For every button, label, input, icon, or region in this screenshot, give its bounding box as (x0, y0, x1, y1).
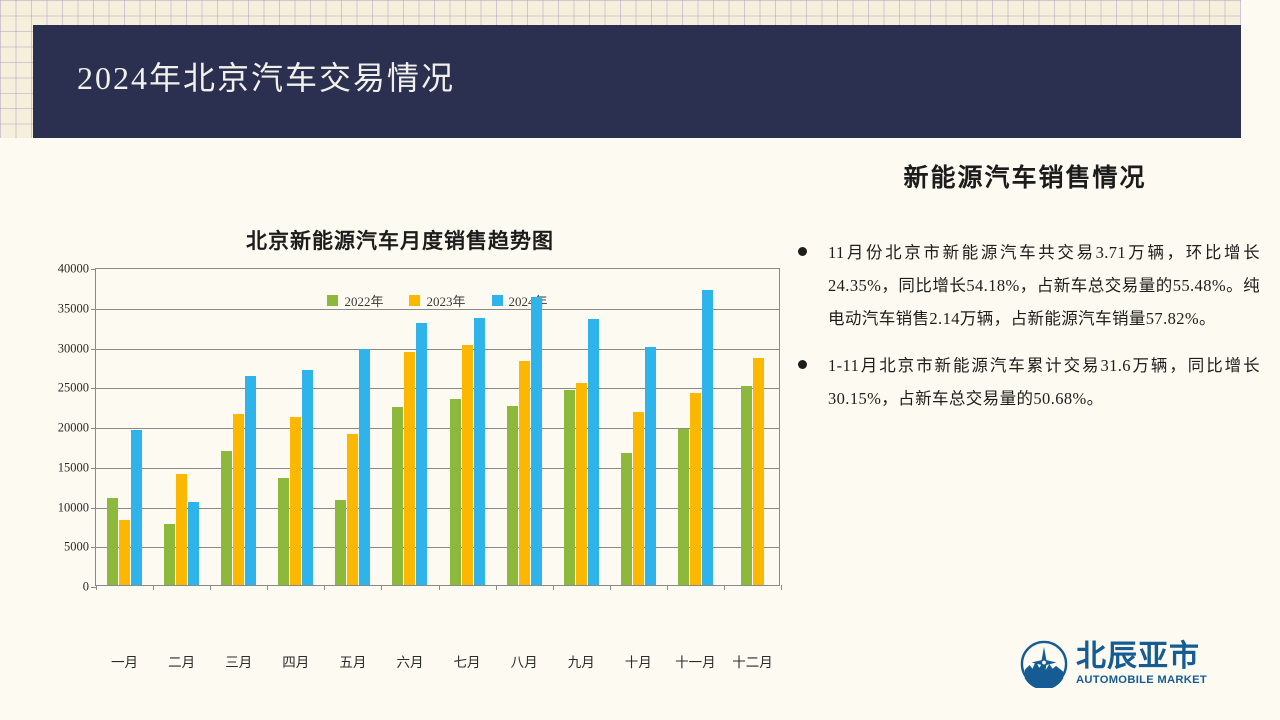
bar-2023年-四月[interactable] (290, 417, 301, 585)
x-tick-label-七月: 七月 (454, 651, 481, 671)
x-tick-label-二月: 二月 (168, 651, 195, 671)
bar-group-五月 (324, 269, 381, 585)
bullet-item: 1-11月北京市新能源汽车累计交易31.6万辆，同比增长30.15%，占新车总交… (790, 349, 1260, 415)
brand-logo: 北辰亚市 AUTOMOBILE MARKET (1020, 640, 1207, 688)
y-tick-label: 20000 (19, 421, 89, 436)
y-tick-label: 30000 (19, 341, 89, 356)
bar-group-十一月 (667, 269, 724, 585)
y-tick-label: 35000 (19, 301, 89, 316)
bar-2022年-六月[interactable] (392, 407, 403, 585)
grid-paper-texture-lower (0, 108, 33, 138)
x-tick-label-四月: 四月 (282, 651, 309, 671)
x-tick-mark (610, 585, 611, 590)
chart-title: 北京新能源汽车月度销售趋势图 (20, 225, 780, 255)
x-tick-label-一月: 一月 (111, 651, 138, 671)
x-tick-mark (324, 585, 325, 590)
bar-2024年-八月[interactable] (531, 297, 542, 585)
slide-root: 2024年北京汽车交易情况 北京新能源汽车月度销售趋势图 05000100001… (0, 0, 1280, 720)
bullet-text: 1-11月北京市新能源汽车累计交易31.6万辆，同比增长30.15%，占新车总交… (828, 356, 1260, 408)
title-bar: 2024年北京汽车交易情况 (33, 25, 1241, 138)
bar-2024年-五月[interactable] (359, 349, 370, 586)
bar-2023年-十一月[interactable] (690, 393, 701, 585)
bar-2022年-三月[interactable] (221, 451, 232, 585)
bullet-list: 11月份北京市新能源汽车共交易3.71万辆，环比增长24.35%，同比增长54.… (790, 236, 1260, 415)
texture-mask (1241, 0, 1280, 108)
chart-panel: 北京新能源汽车月度销售趋势图 0500010000150002000025000… (20, 210, 780, 640)
bar-group-十二月 (724, 269, 781, 585)
right-panel: 新能源汽车销售情况 11月份北京市新能源汽车共交易3.71万辆，环比增长24.3… (790, 150, 1260, 550)
x-tick-mark (667, 585, 668, 590)
bar-group-三月 (210, 269, 267, 585)
bar-2023年-八月[interactable] (519, 361, 530, 585)
chart-bars-layer (96, 269, 779, 585)
bar-2024年-十月[interactable] (645, 347, 656, 585)
bar-2022年-十一月[interactable] (678, 429, 689, 585)
logo-name-en: AUTOMOBILE MARKET (1076, 675, 1207, 686)
right-panel-heading: 新能源汽车销售情况 (790, 158, 1260, 194)
x-tick-label-八月: 八月 (511, 651, 538, 671)
bar-2024年-十一月[interactable] (702, 290, 713, 585)
x-tick-label-九月: 九月 (568, 651, 595, 671)
y-tick-label: 0 (19, 580, 89, 595)
bullet-dot-icon (798, 247, 807, 256)
bar-2022年-二月[interactable] (164, 524, 175, 585)
x-tick-label-十月: 十月 (625, 651, 652, 671)
bar-2023年-五月[interactable] (347, 434, 358, 585)
bar-group-七月 (439, 269, 496, 585)
x-tick-mark (267, 585, 268, 590)
bar-2023年-三月[interactable] (233, 414, 244, 585)
y-tick-label: 15000 (19, 460, 89, 475)
y-tick-label: 10000 (19, 500, 89, 515)
x-tick-label-三月: 三月 (225, 651, 252, 671)
bar-2023年-六月[interactable] (404, 352, 415, 585)
y-tick-label: 40000 (19, 262, 89, 277)
chart-plot-area: 0500010000150002000025000300003500040000… (95, 268, 780, 586)
bar-2022年-五月[interactable] (335, 500, 346, 585)
x-tick-mark (724, 585, 725, 590)
bar-2023年-七月[interactable] (462, 345, 473, 585)
bar-group-六月 (381, 269, 438, 585)
bar-group-一月 (96, 269, 153, 585)
y-tick-label: 25000 (19, 381, 89, 396)
bar-2022年-九月[interactable] (564, 390, 575, 585)
x-tick-label-六月: 六月 (396, 651, 423, 671)
bar-2023年-一月[interactable] (119, 520, 130, 585)
bullet-text: 11月份北京市新能源汽车共交易3.71万辆，环比增长24.35%，同比增长54.… (828, 243, 1260, 328)
bar-2022年-七月[interactable] (450, 399, 461, 585)
bar-2023年-十二月[interactable] (753, 358, 764, 585)
x-tick-mark (381, 585, 382, 590)
x-tick-mark (439, 585, 440, 590)
y-tick-label: 5000 (19, 540, 89, 555)
bar-group-二月 (153, 269, 210, 585)
bar-2024年-六月[interactable] (416, 323, 427, 585)
logo-name-cn: 北辰亚市 (1076, 642, 1207, 672)
bar-group-九月 (553, 269, 610, 585)
bar-2023年-二月[interactable] (176, 474, 187, 585)
bar-group-八月 (496, 269, 553, 585)
bar-2023年-十月[interactable] (633, 412, 644, 585)
x-tick-mark (553, 585, 554, 590)
bar-2024年-七月[interactable] (474, 318, 485, 585)
x-tick-label-十一月: 十一月 (675, 651, 716, 671)
bar-2022年-十二月[interactable] (741, 386, 752, 585)
x-tick-mark (210, 585, 211, 590)
bullet-dot-icon (798, 360, 807, 369)
logo-text: 北辰亚市 AUTOMOBILE MARKET (1076, 642, 1207, 686)
bar-2024年-四月[interactable] (302, 370, 313, 585)
x-tick-label-十二月: 十二月 (732, 651, 773, 671)
bar-2024年-一月[interactable] (131, 430, 142, 585)
x-tick-mark (96, 585, 97, 590)
bar-2022年-十月[interactable] (621, 453, 632, 585)
logo-emblem-icon (1020, 640, 1068, 688)
x-tick-mark (153, 585, 154, 590)
bar-2024年-二月[interactable] (188, 502, 199, 585)
bar-group-四月 (267, 269, 324, 585)
x-tick-label-五月: 五月 (339, 651, 366, 671)
bar-2022年-八月[interactable] (507, 406, 518, 585)
x-tick-mark (781, 585, 782, 590)
bar-2022年-四月[interactable] (278, 478, 289, 585)
bullet-item: 11月份北京市新能源汽车共交易3.71万辆，环比增长24.35%，同比增长54.… (790, 236, 1260, 335)
x-tick-mark (496, 585, 497, 590)
bar-2024年-三月[interactable] (245, 376, 256, 585)
bar-2023年-九月[interactable] (576, 383, 587, 585)
bar-2022年-一月[interactable] (107, 498, 118, 585)
bar-2024年-九月[interactable] (588, 319, 599, 585)
page-title: 2024年北京汽车交易情况 (77, 53, 455, 99)
bar-group-十月 (610, 269, 667, 585)
